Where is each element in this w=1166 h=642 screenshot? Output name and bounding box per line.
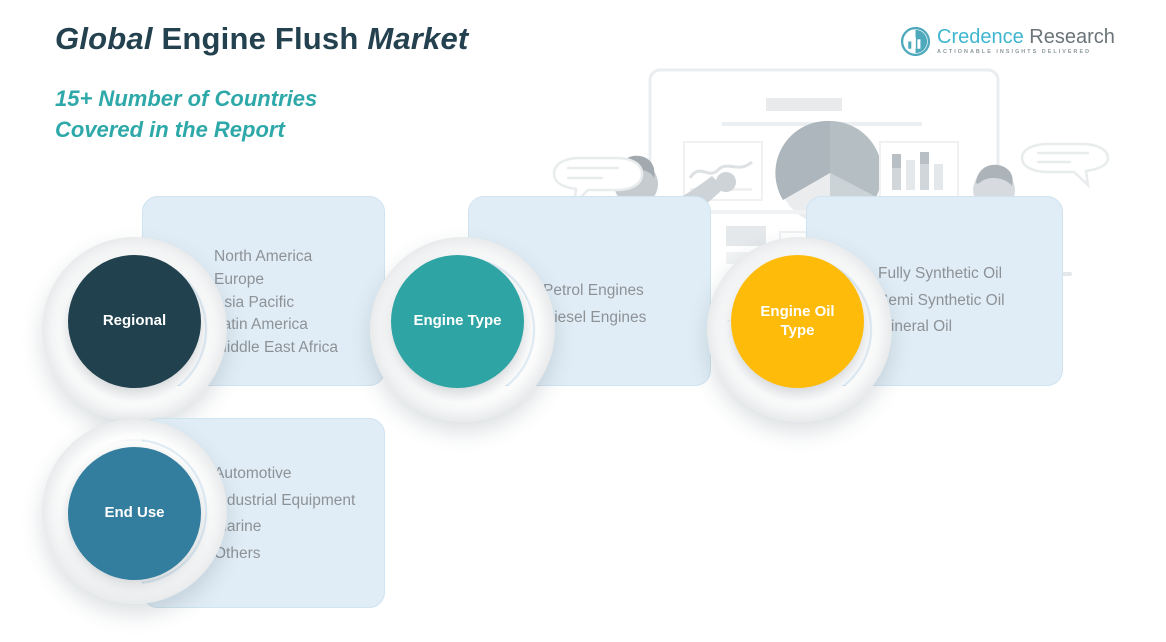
logo-tagline: Actionable Insights Delivered (937, 50, 1115, 55)
list-item: Industrial Equipment (214, 488, 355, 515)
list-item: Europe (214, 269, 338, 292)
engine-type-bubble-label: Engine Type (413, 312, 501, 330)
list-item: Others (214, 541, 355, 568)
credence-bars-icon (901, 27, 930, 56)
regional-bubble[interactable]: Regional (68, 255, 201, 388)
end-use-item-list: Automotive Industrial Equipment Marine O… (214, 461, 355, 568)
engine-oil-type-bubble-label: Engine Oil Type (760, 303, 834, 340)
list-item: Latin America (214, 314, 338, 337)
page-subtitle: 15+ Number of Countries Covered in the R… (55, 83, 317, 145)
list-item: Semi Synthetic Oil (878, 288, 1005, 315)
engine-oil-type-item-list: Fully Synthetic Oil Semi Synthetic Oil M… (878, 261, 1005, 341)
end-use-bubble-label: End Use (104, 504, 164, 522)
list-item: Petrol Engines (543, 278, 646, 305)
list-item: North America (214, 246, 338, 269)
infographic-canvas: Global Engine Flush Market 15+ Number of… (0, 0, 1166, 642)
list-item: Middle East Africa (214, 337, 338, 360)
logo-text-block: Credence Research Actionable Insights De… (937, 27, 1115, 55)
list-item: Asia Pacific (214, 292, 338, 315)
engine-type-bubble[interactable]: Engine Type (391, 255, 524, 388)
list-item: Fully Synthetic Oil (878, 261, 1005, 288)
subtitle-line-1: 15+ Number of Countries (55, 83, 317, 114)
engine-oil-type-bubble[interactable]: Engine Oil Type (731, 255, 864, 388)
title-word-engine-flush: Engine Flush (153, 21, 368, 56)
end-use-bubble[interactable]: End Use (68, 447, 201, 580)
regional-item-list: North America Europe Asia Pacific Latin … (214, 246, 338, 360)
credence-research-logo: Credence Research Actionable Insights De… (901, 27, 1115, 56)
list-item: Marine (214, 514, 355, 541)
logo-name: Credence Research (937, 27, 1115, 47)
engine-type-item-list: Petrol Engines Diesel Engines (543, 278, 646, 331)
page-title: Global Engine Flush Market (55, 21, 468, 57)
title-word-market: Market (367, 21, 468, 56)
regional-bubble-label: Regional (103, 312, 166, 330)
list-item: Diesel Engines (543, 305, 646, 332)
list-item: Automotive (214, 461, 355, 488)
subtitle-line-2: Covered in the Report (55, 114, 317, 145)
title-word-global: Global (55, 21, 153, 56)
list-item: Mineral Oil (878, 314, 1005, 341)
